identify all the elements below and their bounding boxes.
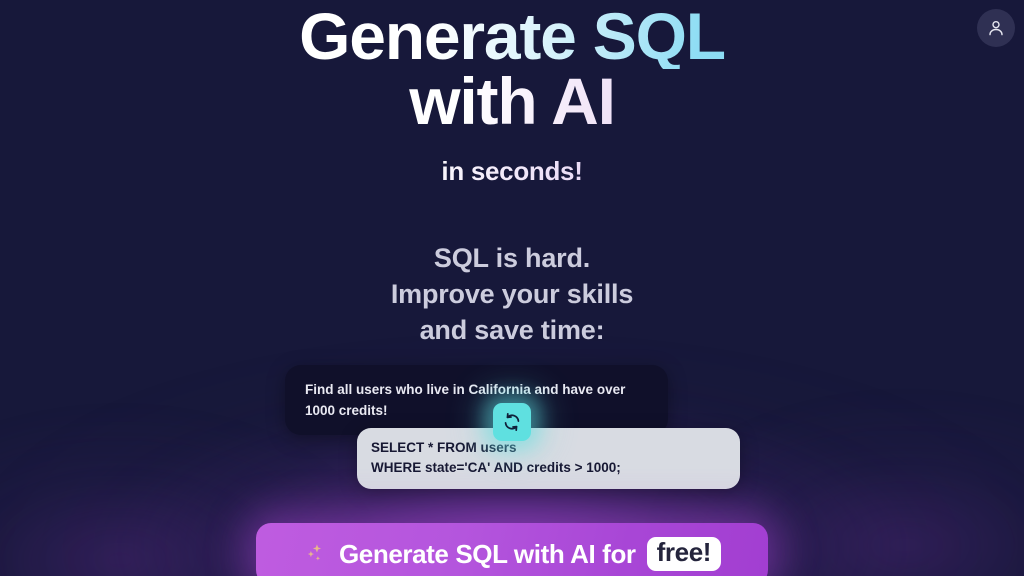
- pitch-line-2: Improve your skills: [0, 276, 1024, 312]
- sql-line-2: WHERE state='CA' AND credits > 1000;: [371, 458, 726, 478]
- title-line-2: with AI: [0, 69, 1024, 134]
- cta-highlight-chip: free!: [647, 537, 721, 570]
- refresh-sync-icon[interactable]: [493, 403, 531, 441]
- generate-sql-cta-button[interactable]: Generate SQL with AI for free!: [256, 523, 768, 576]
- page-subtitle: in seconds!: [0, 156, 1024, 187]
- pitch-line-1: SQL is hard.: [0, 240, 1024, 276]
- sparkles-icon: [303, 542, 328, 567]
- page-content: Generate SQL with AI in seconds! SQL is …: [0, 0, 1024, 576]
- cta-label: Generate SQL with AI for: [339, 539, 636, 570]
- user-prompt-bubble: Find all users who live in California an…: [285, 365, 668, 435]
- title-line-1: Generate SQL: [0, 4, 1024, 69]
- sql-result-bubble: SELECT * FROM users WHERE state='CA' AND…: [357, 428, 740, 489]
- page-title: Generate SQL with AI: [0, 4, 1024, 135]
- pitch-text: SQL is hard. Improve your skills and sav…: [0, 240, 1024, 349]
- sql-line-1: SELECT * FROM users: [371, 438, 726, 458]
- pitch-line-3: and save time:: [0, 312, 1024, 348]
